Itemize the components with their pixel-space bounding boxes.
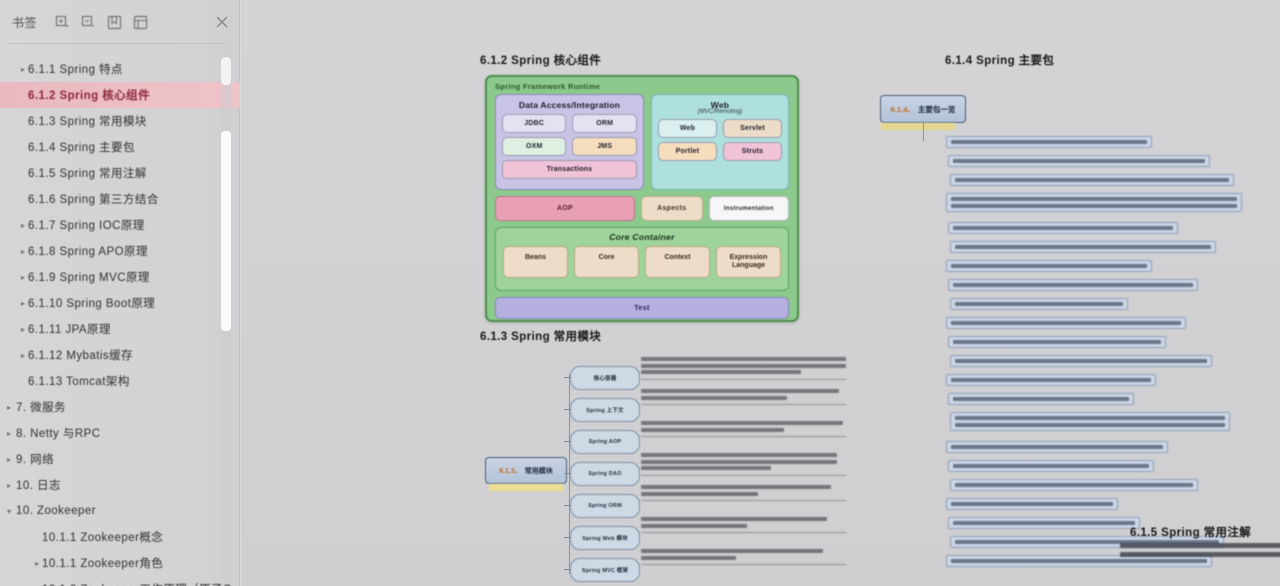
sidebar-toolbar: 书签	[0, 0, 240, 44]
bookmark-item-13[interactable]: ▸7. 微服务	[0, 394, 240, 420]
disclosure-arrow-icon[interactable]: ▸	[18, 273, 28, 282]
bookmark-item-label: 6.1.9 Spring MVC原理	[28, 269, 150, 285]
bookmark-list-icon[interactable]	[133, 15, 148, 30]
group-title: Data Access/Integration	[496, 95, 643, 110]
bookmark-item-0[interactable]: ▸6.1.1 Spring 特点	[0, 56, 240, 82]
bookmark-item-label: 10.1.2 Zookeeper工作原理（原子C	[42, 581, 232, 586]
mind-map-node-text-3	[641, 453, 846, 476]
cell-oxm: OXM	[502, 137, 566, 156]
disclosure-arrow-icon[interactable]: ▸	[4, 481, 14, 490]
package-item-6[interactable]	[946, 260, 1152, 272]
bookmark-item-7[interactable]: ▸6.1.8 Spring APO原理	[0, 238, 240, 264]
common-modules-mind-map: 6.1.3、 常用模块 核心容器Spring 上下文Spring AOPSpri…	[485, 350, 855, 586]
bookmark-item-9[interactable]: ▸6.1.10 Spring Boot原理	[0, 290, 240, 316]
bookmark-item-14[interactable]: ▸8. Netty 与RPC	[0, 420, 240, 446]
bookmark-item-12[interactable]: ▸6.1.13 Tomcat架构	[0, 368, 240, 394]
cell-web: Web	[658, 119, 717, 138]
bookmark-add-icon[interactable]	[107, 15, 122, 30]
bookmark-item-label: 6.1.11 JPA原理	[28, 321, 111, 337]
bookmark-item-label: 10.1.1 Zookeeper角色	[42, 555, 163, 571]
bookmark-item-label: 6.1.3 Spring 常用模块	[28, 113, 147, 129]
mind-map-node-1[interactable]: Spring 上下文	[570, 398, 640, 422]
package-item-14[interactable]	[950, 412, 1230, 431]
core-container-group: Core Container Beans Core Context Expres…	[495, 227, 789, 291]
close-icon[interactable]	[214, 14, 230, 30]
group-title: Web	[652, 95, 788, 110]
disclosure-arrow-icon[interactable]: ▸	[18, 351, 28, 360]
bookmark-item-label: 6.1.5 Spring 常用注解	[28, 165, 147, 181]
cell-transactions: Transactions	[502, 160, 637, 179]
package-item-0[interactable]	[946, 136, 1152, 148]
package-item-11[interactable]	[950, 355, 1212, 367]
bar-test: Test	[495, 297, 789, 319]
spring-framework-runtime-diagram: Spring Framework Runtime Data Access/Int…	[485, 75, 799, 322]
annotations-paragraph	[1120, 536, 1280, 561]
package-item-17[interactable]	[950, 479, 1198, 491]
package-item-12[interactable]	[946, 374, 1156, 386]
mind-map-node-4[interactable]: Spring ORM	[570, 494, 640, 518]
pdf-reader-window: 书签 ▸6.1.1 Spring 特点▸6.1.2 Sp	[0, 0, 1280, 586]
right-spine	[923, 121, 924, 141]
heading-common-modules: 6.1.3 Spring 常用模块	[480, 328, 601, 344]
package-item-4[interactable]	[948, 222, 1178, 234]
bookmark-item-label: 10. Zookeeper	[16, 505, 96, 517]
package-item-1[interactable]	[948, 155, 1210, 167]
diagram-title: Spring Framework Runtime	[495, 82, 600, 91]
mind-map-root-node: 6.1.3、 常用模块	[485, 457, 567, 484]
bookmark-item-17[interactable]: ▾10. Zookeeper	[0, 498, 240, 524]
disclosure-arrow-icon[interactable]: ▸	[32, 559, 42, 568]
package-item-10[interactable]	[948, 336, 1166, 348]
cell-beans: Beans	[503, 246, 568, 278]
sidebar-toolbar-icons	[55, 15, 148, 30]
disclosure-arrow-icon[interactable]: ▸	[18, 221, 28, 230]
sidebar-title: 书签	[12, 14, 37, 31]
package-item-2[interactable]	[950, 174, 1234, 186]
root-number: 6.1.3、	[499, 466, 522, 476]
bookmark-item-label: 10. 日志	[16, 477, 61, 493]
bookmark-item-label: 6.1.8 Spring APO原理	[28, 243, 148, 259]
bookmark-item-15[interactable]: ▸9. 网络	[0, 446, 240, 472]
right-root-number: 6.1.4、	[891, 104, 915, 115]
cell-servlet: Servlet	[723, 119, 782, 138]
core-container-title: Core Container	[496, 228, 788, 242]
cell-struts: Struts	[723, 142, 782, 161]
group-web: Web (MVC/Remoting) Web Servlet Portlet S…	[651, 94, 789, 190]
bookmark-sidebar: 书签 ▸6.1.1 Spring 特点▸6.1.2 Sp	[0, 0, 240, 586]
package-item-13[interactable]	[948, 393, 1134, 405]
sidebar-scrollbar-thumb-top[interactable]	[220, 56, 232, 86]
bookmark-item-label: 6.1.1 Spring 特点	[28, 61, 123, 77]
mind-map-node-text-4	[641, 485, 846, 501]
package-item-19[interactable]	[948, 517, 1140, 529]
bookmark-item-label: 6.1.13 Tomcat架构	[28, 373, 130, 389]
disclosure-arrow-icon[interactable]: ▾	[4, 507, 14, 516]
bookmark-item-20[interactable]: ▸10.1.2 Zookeeper工作原理（原子C	[0, 576, 240, 586]
collapse-all-icon[interactable]	[81, 15, 96, 30]
package-item-15[interactable]	[946, 441, 1168, 453]
document-page: 6.1.2 Spring 核心组件 Spring Framework Runti…	[240, 0, 1280, 586]
heading-main-packages: 6.1.4 Spring 主要包	[945, 52, 1054, 68]
bookmark-item-label: 6.1.2 Spring 核心组件	[28, 87, 150, 103]
toolbar-divider	[8, 43, 226, 44]
mind-map-root-note	[489, 484, 563, 491]
bookmark-item-label: 6.1.7 Spring IOC原理	[28, 217, 145, 233]
cell-jms: JMS	[572, 137, 636, 156]
disclosure-arrow-icon[interactable]: ▸	[4, 429, 14, 438]
mind-map-node-text-0	[641, 357, 846, 380]
bookmark-item-18[interactable]: ▸10.1.1 Zookeeper概念	[0, 524, 240, 550]
group-data-access-integration: Data Access/Integration JDBC ORM OXM JMS…	[495, 94, 644, 190]
cell-context: Context	[645, 246, 710, 278]
bookmark-item-19[interactable]: ▸10.1.1 Zookeeper角色	[0, 550, 240, 576]
package-item-16[interactable]	[948, 460, 1154, 472]
disclosure-arrow-icon[interactable]: ▸	[18, 325, 28, 334]
cell-jdbc: JDBC	[502, 114, 566, 133]
package-item-8[interactable]	[950, 298, 1128, 310]
expand-all-icon[interactable]	[55, 15, 70, 30]
package-item-5[interactable]	[950, 241, 1216, 253]
mind-map-node-2[interactable]: Spring AOP	[570, 430, 640, 454]
bookmark-item-label: 6.1.10 Spring Boot原理	[28, 295, 155, 311]
bookmark-item-16[interactable]: ▸10. 日志	[0, 472, 240, 498]
right-root-node: 6.1.4、 主要包一览	[880, 95, 966, 123]
bookmark-item-label: 6.1.4 Spring 主要包	[28, 139, 135, 155]
sidebar-scrollbar-thumb[interactable]	[220, 130, 232, 332]
bar-aspects: Aspects	[641, 196, 703, 221]
cell-expression-language: Expression Language	[716, 246, 781, 278]
right-root-note	[881, 123, 955, 130]
bookmark-list[interactable]: ▸6.1.1 Spring 特点▸6.1.2 Spring 核心组件▸6.1.3…	[0, 50, 240, 586]
bookmark-item-label: 10.1.1 Zookeeper概念	[42, 529, 163, 545]
disclosure-arrow-icon[interactable]: ▸	[4, 455, 14, 464]
disclosure-arrow-icon[interactable]: ▸	[18, 299, 28, 308]
cell-core: Core	[574, 246, 639, 278]
disclosure-arrow-icon[interactable]: ▸	[18, 247, 28, 256]
package-item-7[interactable]	[948, 279, 1198, 291]
disclosure-arrow-icon[interactable]: ▸	[4, 403, 14, 412]
package-item-9[interactable]	[946, 317, 1186, 329]
mind-map-node-5[interactable]: Spring Web 模块	[570, 526, 640, 550]
mind-map-node-text-1	[641, 389, 846, 405]
mind-map-node-text-5	[641, 517, 846, 533]
bookmark-item-8[interactable]: ▸6.1.9 Spring MVC原理	[0, 264, 240, 290]
bookmark-item-label: 9. 网络	[16, 451, 54, 467]
bookmark-item-3[interactable]: ▸6.1.4 Spring 主要包	[0, 134, 240, 160]
bookmark-item-2[interactable]: ▸6.1.3 Spring 常用模块	[0, 108, 240, 134]
bookmark-item-1[interactable]: ▸6.1.2 Spring 核心组件	[0, 82, 240, 108]
cell-portlet: Portlet	[658, 142, 717, 161]
bookmark-item-label: 6.1.12 Mybatis缓存	[28, 347, 133, 363]
bookmark-item-label: 6.1.6 Spring 第三方结合	[28, 191, 159, 207]
bookmark-item-10[interactable]: ▸6.1.11 JPA原理	[0, 316, 240, 342]
mind-map-node-0[interactable]: 核心容器	[570, 366, 640, 390]
root-label: 常用模块	[525, 466, 553, 476]
cell-orm: ORM	[572, 114, 636, 133]
bar-aop: AOP	[495, 196, 635, 221]
bookmark-item-label: 8. Netty 与RPC	[16, 425, 100, 441]
bookmark-item-4[interactable]: ▸6.1.5 Spring 常用注解	[0, 160, 240, 186]
mind-map-node-text-2	[641, 421, 846, 437]
package-item-18[interactable]	[946, 498, 1118, 510]
right-root-label: 主要包一览	[918, 104, 956, 115]
disclosure-arrow-icon[interactable]: ▸	[18, 65, 28, 74]
bookmark-item-5[interactable]: ▸6.1.6 Spring 第三方结合	[0, 186, 240, 212]
mind-map-node-text-6	[641, 549, 846, 565]
mind-map-node-6[interactable]: Spring MVC 框架	[570, 558, 640, 582]
bookmark-item-11[interactable]: ▸6.1.12 Mybatis缓存	[0, 342, 240, 368]
bar-instrumentation: Instrumentation	[709, 196, 789, 221]
bookmark-item-6[interactable]: ▸6.1.7 Spring IOC原理	[0, 212, 240, 238]
mind-map-node-3[interactable]: Spring DAO	[570, 462, 640, 486]
bookmark-item-label: 7. 微服务	[16, 399, 66, 415]
heading-core-components: 6.1.2 Spring 核心组件	[480, 52, 601, 68]
package-item-3[interactable]	[946, 193, 1242, 212]
